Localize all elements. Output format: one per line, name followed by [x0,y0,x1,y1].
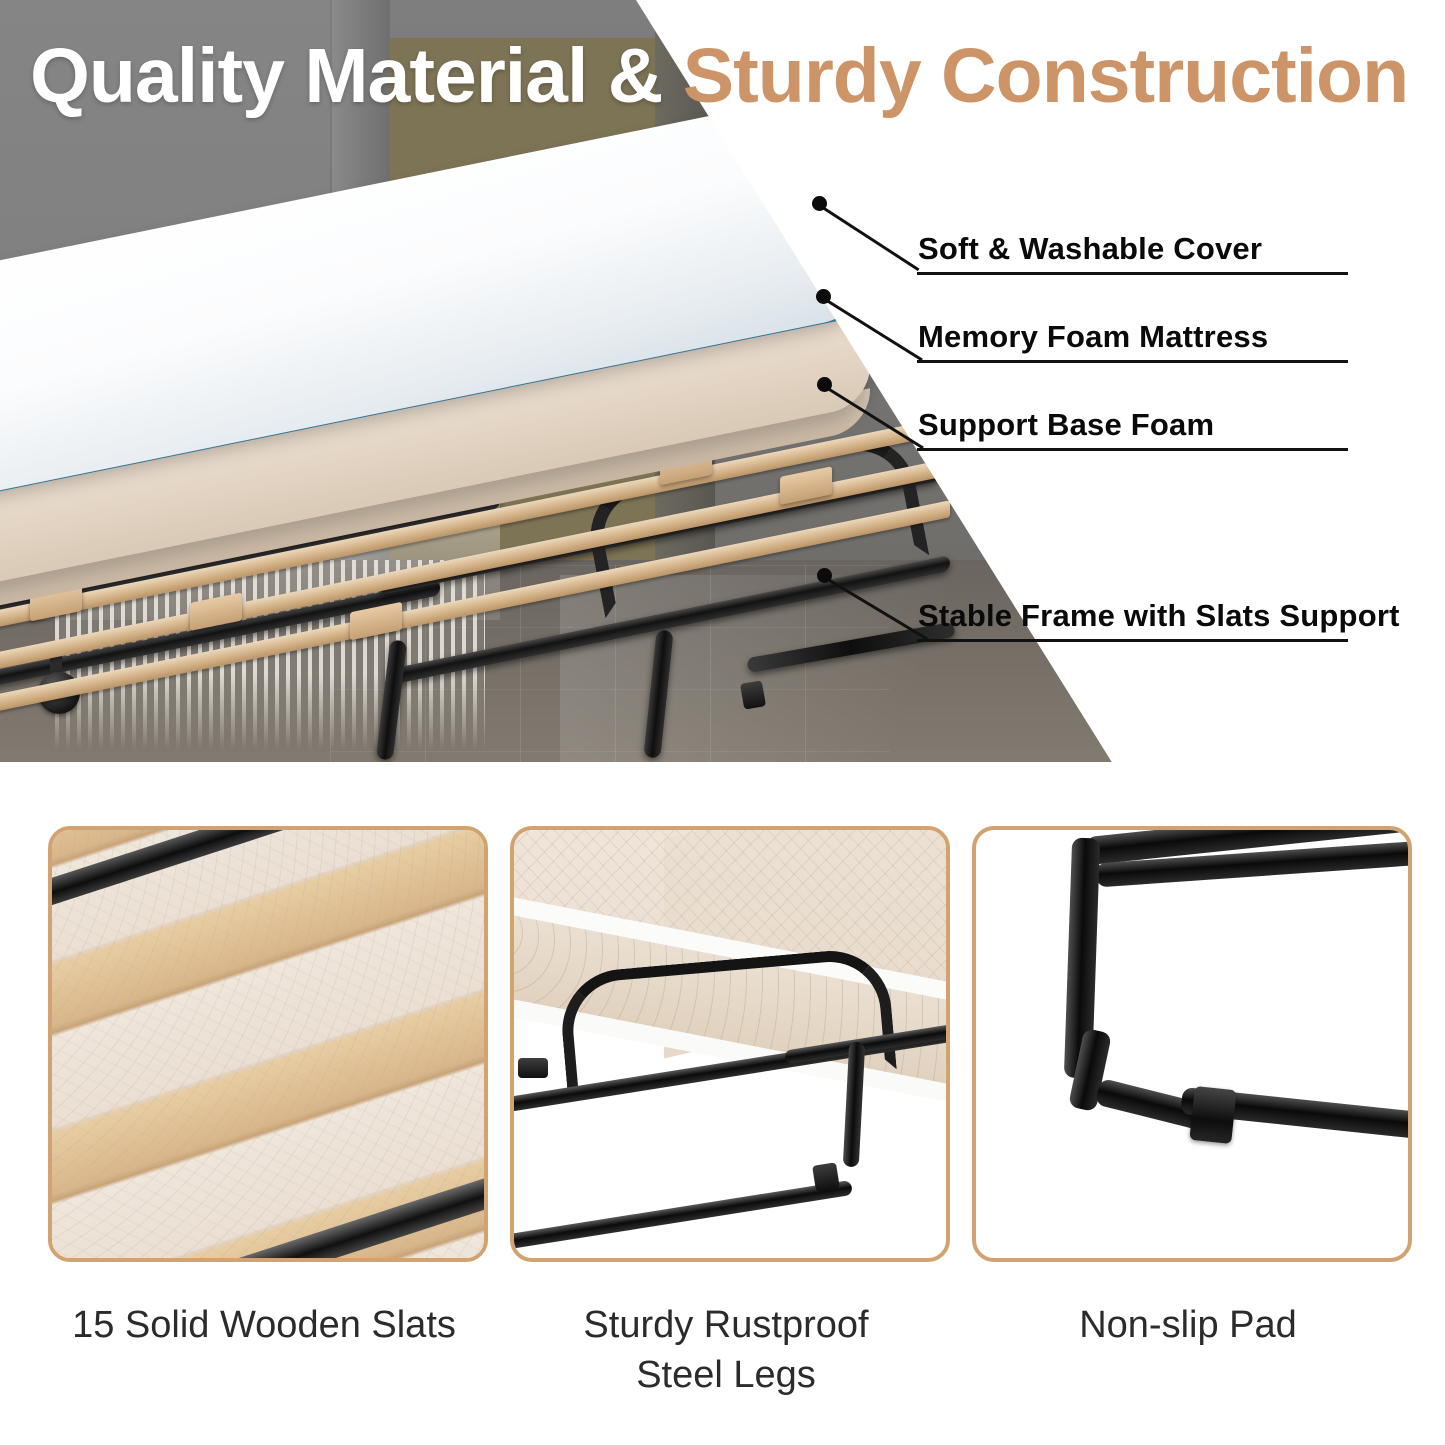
callout-underline-cover [917,272,1348,275]
callout-label-cover: Soft & Washable Cover [918,231,1262,267]
hero-bottom-mask [0,762,1445,770]
feature-caption-steel-legs: Sturdy Rustproof Steel Legs [510,1300,942,1400]
callout-dot-base-foam [817,377,832,392]
feature-panel-non-slip-pad [972,826,1412,1262]
mattress-hook-clip [518,1058,548,1078]
callout-dot-memory-foam [816,289,831,304]
callout-underline-memory-foam [917,360,1348,363]
steel-rail-lower [510,1180,853,1251]
callout-dot-frame [817,568,832,583]
feature-caption-steel-legs-line1: Sturdy Rustproof [510,1300,942,1350]
callout-label-base-foam: Support Base Foam [918,407,1214,443]
slats-fabric-texture [48,826,488,1262]
callout-label-frame: Stable Frame with Slats Support [918,598,1400,634]
callout-label-memory-foam: Memory Foam Mattress [918,319,1268,355]
callout-dot-cover [812,196,827,211]
page-title: Quality Material & Sturdy Construction [30,28,1420,124]
page-title-part-tan: Sturdy Construction [683,33,1408,119]
callout-underline-frame [917,639,1348,642]
feature-caption-steel-legs-line2: Steel Legs [510,1350,942,1400]
steel-leg-clip [812,1162,840,1191]
frame-clip [740,680,766,709]
non-slip-pad [1189,1086,1236,1144]
feature-caption-non-slip-pad: Non-slip Pad [972,1300,1404,1350]
callout-underline-base-foam [917,448,1348,451]
page-title-part-white: Quality Material & [30,33,683,119]
feature-panel-slats [48,826,488,1262]
feature-panel-steel-legs [510,826,950,1262]
feature-caption-slats: 15 Solid Wooden Slats [48,1300,480,1350]
